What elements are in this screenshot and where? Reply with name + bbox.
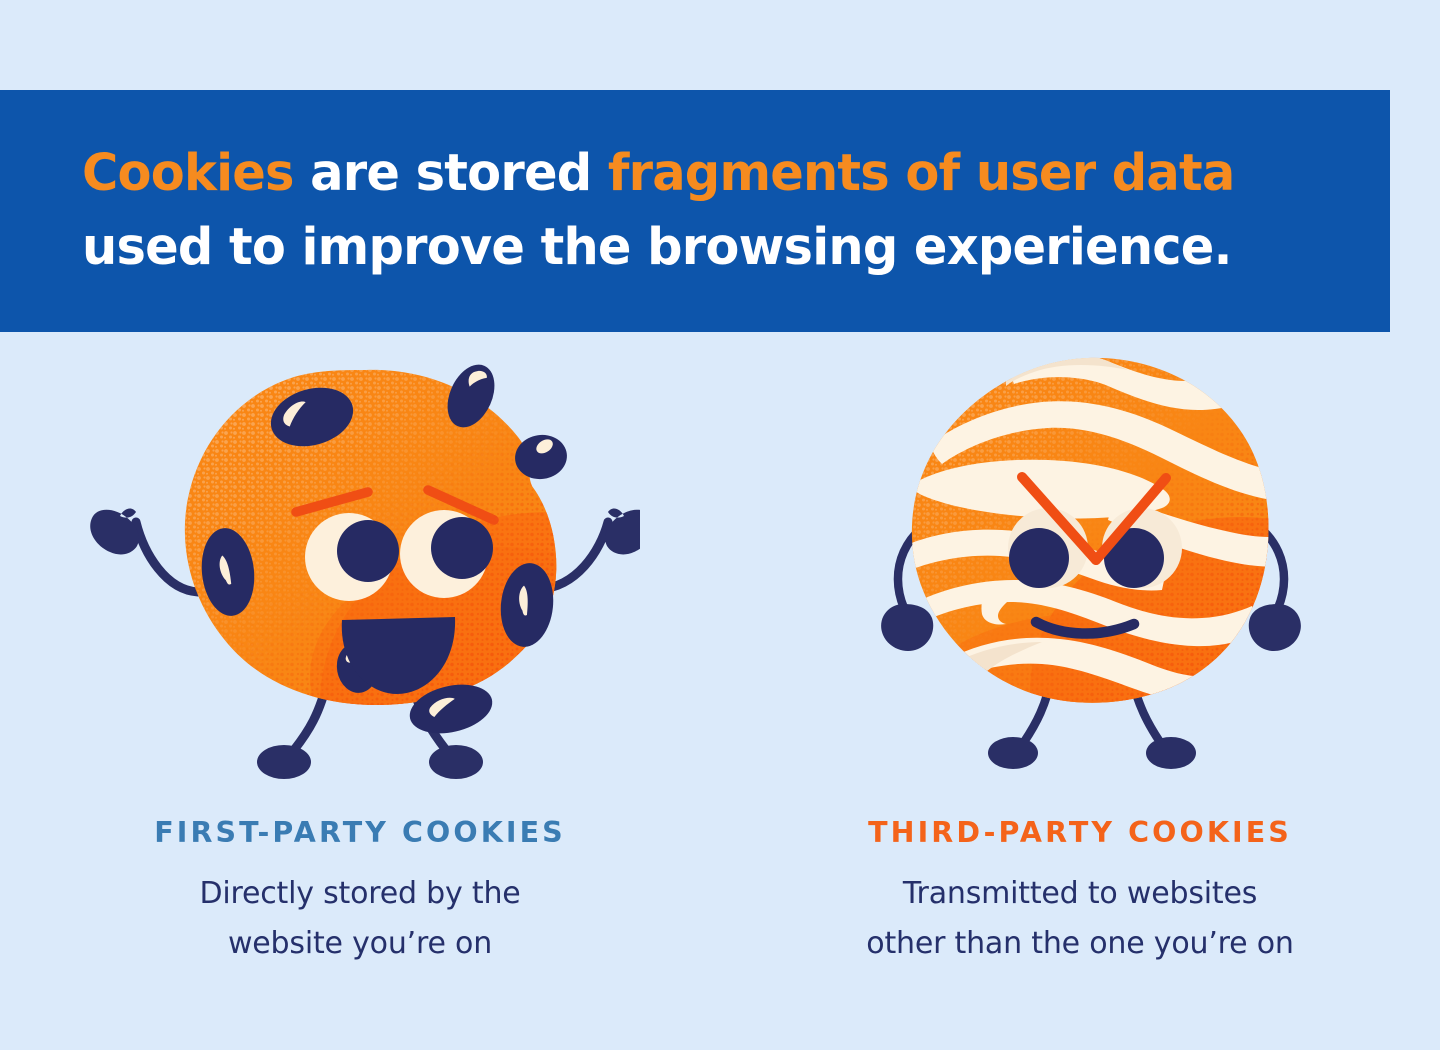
headline-accent-fragments: fragments of user data: [608, 144, 1235, 203]
headline-line-1: Cookies are stored fragments of user dat…: [82, 137, 1312, 211]
headline-line-2: used to improve the browsing experience.: [82, 211, 1312, 285]
cookie-right-foot: [1146, 737, 1196, 769]
third-party-title: THIRD-PARTY COOKIES: [868, 816, 1292, 849]
cookie-right-foot: [429, 745, 483, 779]
third-party-cookie-illustration: [800, 332, 1360, 802]
infographic-canvas: Cookies are stored fragments of user dat…: [0, 0, 1440, 1050]
chocolate-chip-cookie-icon: [80, 332, 640, 802]
cookie-left-hand: [90, 509, 139, 555]
columns-container: FIRST-PARTY COOKIES Directly stored by t…: [0, 332, 1440, 1050]
headline-accent-cookies: Cookies: [82, 144, 294, 203]
column-third-party: THIRD-PARTY COOKIES Transmitted to websi…: [720, 332, 1440, 1050]
first-party-title: FIRST-PARTY COOKIES: [154, 816, 566, 849]
cookie-left-foot: [988, 737, 1038, 769]
cookie-left-foot: [257, 745, 311, 779]
headline-plain-1: are stored: [294, 144, 608, 203]
first-party-cookie-illustration: [80, 332, 640, 802]
third-party-description-line-1: Transmitted to websites: [903, 876, 1257, 911]
headline-banner: Cookies are stored fragments of user dat…: [0, 90, 1390, 332]
third-party-description-line-2: other than the one you’re on: [866, 926, 1293, 961]
cookie-left-hand: [881, 604, 933, 651]
column-first-party: FIRST-PARTY COOKIES Directly stored by t…: [0, 332, 720, 1050]
frosted-drizzle-cookie-icon: [800, 332, 1360, 802]
third-party-description: Transmitted to websitesother than the on…: [866, 869, 1293, 969]
first-party-description: Directly stored by thewebsite you’re on: [199, 869, 520, 969]
cookie-right-hand: [1249, 604, 1301, 651]
first-party-description-line-2: website you’re on: [228, 926, 492, 961]
first-party-description-line-1: Directly stored by the: [199, 876, 520, 911]
cookie-right-hand: [605, 509, 640, 555]
